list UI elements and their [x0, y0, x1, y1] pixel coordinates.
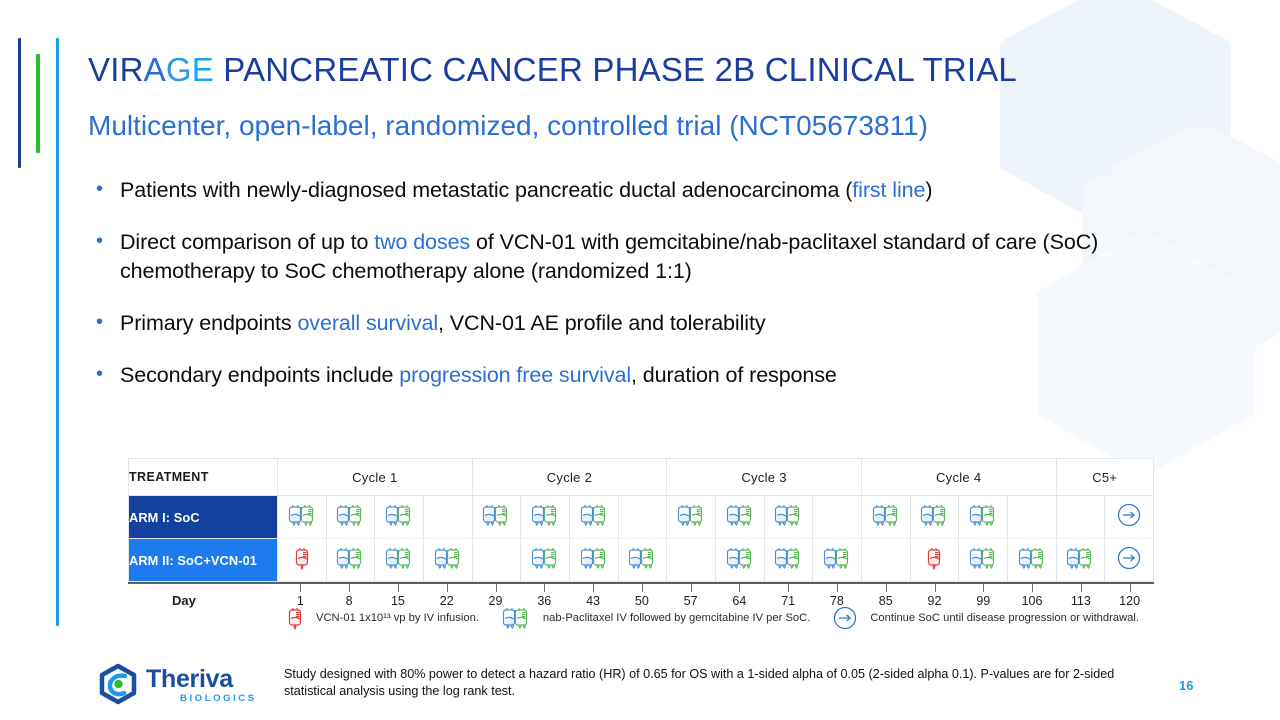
chemo-bag-icon: [871, 502, 901, 528]
schedule-cell-arm2-day99: [959, 539, 1008, 582]
chemo-bag-icon: [579, 502, 609, 528]
treatment-schedule: TREATMENT Cycle 1Cycle 2Cycle 3Cycle 4C5…: [128, 458, 1154, 616]
schedule-cell-arm1-day8: [326, 496, 375, 539]
bullet-item: •Secondary endpoints include progression…: [92, 361, 1202, 390]
schedule-cell-arm2-day106: [1007, 539, 1056, 582]
bullet-0-seg-2: ): [925, 178, 932, 202]
accent-bar-cyan: [56, 38, 59, 626]
legend-text-1: nab-Paclitaxel IV followed by gemcitabin…: [543, 612, 810, 624]
schedule-cell-arm1-day1: [278, 496, 327, 539]
legend-item-1: nab-Paclitaxel IV followed by gemcitabin…: [501, 605, 810, 631]
chemo-bag-icon: [501, 605, 531, 631]
schedule-row-arm-1: ARM I: SoC: [129, 496, 1154, 539]
day-tick-22: [447, 584, 448, 592]
schedule-cell-arm1-day92: [910, 496, 959, 539]
schedule-cell-arm2-day50: [618, 539, 667, 582]
arm-label-1: ARM I: SoC: [129, 496, 278, 539]
legend-text-2: Continue SoC until disease progression o…: [870, 612, 1139, 624]
schedule-cell-arm1-day22: [423, 496, 472, 539]
schedule-cell-arm1-day120: [1105, 496, 1154, 539]
chemo-bag-icon: [501, 605, 537, 631]
chemo-bag-icon: [335, 545, 365, 571]
theriva-hexagon-icon: [96, 663, 142, 705]
schedule-cell-arm2-day85: [861, 539, 910, 582]
schedule-head: TREATMENT Cycle 1Cycle 2Cycle 3Cycle 4C5…: [129, 459, 1154, 496]
legend-item-0: VCN-01 1x10¹³ vp by IV infusion.: [286, 605, 479, 631]
treatment-header: TREATMENT: [129, 459, 278, 496]
chemo-bag-icon: [481, 502, 511, 528]
arrow-circle-icon: [1116, 545, 1142, 571]
day-tick-15: [398, 584, 399, 592]
day-tick-99: [983, 584, 984, 592]
day-tick-120: [1130, 584, 1131, 592]
arrow-circle-icon: [1116, 502, 1142, 528]
schedule-cell-arm2-day36: [521, 539, 570, 582]
day-tick-92: [935, 584, 936, 592]
vcn-bag-icon: [293, 545, 311, 571]
cycle-header-1: Cycle 1: [278, 459, 473, 496]
chemo-bag-icon: [725, 545, 755, 571]
bullet-0-seg-0: Patients with newly-diagnosed metastatic…: [120, 178, 852, 202]
day-tick-36: [544, 584, 545, 592]
schedule-legend: VCN-01 1x10¹³ vp by IV infusion. nab-Pac…: [286, 606, 1176, 630]
chemo-bag-icon: [773, 545, 803, 571]
day-tick-50: [642, 584, 643, 592]
chemo-bag-icon: [384, 502, 414, 528]
bullet-3-seg-1: progression free survival: [399, 363, 631, 387]
schedule-cell-arm1-day85: [861, 496, 910, 539]
title-part-4: PANCREATIC CANCER PHASE 2B CLINICAL TRIA…: [214, 51, 1017, 88]
bullet-item: •Direct comparison of up to two doses of…: [92, 228, 1202, 286]
schedule-cell-arm1-day64: [715, 496, 764, 539]
chemo-bag-icon: [676, 502, 706, 528]
schedule-cell-arm2-day1: [278, 539, 327, 582]
chemo-bag-icon: [384, 545, 414, 571]
chemo-bag-icon: [433, 545, 463, 571]
day-axis-label: Day: [172, 593, 196, 608]
schedule-cell-arm2-day120: [1105, 539, 1154, 582]
schedule-cell-arm2-day92: [910, 539, 959, 582]
cycle-header-2: Cycle 2: [472, 459, 667, 496]
chemo-bag-icon: [1065, 545, 1095, 571]
cycle-header-5: C5+: [1056, 459, 1154, 496]
day-tick-78: [837, 584, 838, 592]
logo-subtitle: BIOLOGICS: [180, 693, 257, 704]
schedule-cell-arm1-day71: [764, 496, 813, 539]
arrow-circle-icon: [832, 605, 864, 631]
schedule-cell-arm1-day78: [813, 496, 862, 539]
chemo-bag-icon: [968, 545, 998, 571]
vcn-bag-icon: [925, 545, 943, 571]
day-tick-8: [349, 584, 350, 592]
bullet-marker-icon: •: [92, 176, 120, 202]
bullet-list: •Patients with newly-diagnosed metastati…: [92, 176, 1202, 413]
title-part-3: E: [192, 51, 214, 88]
cycle-header-3: Cycle 3: [667, 459, 862, 496]
schedule-row-arm-2: ARM II: SoC+VCN-01: [129, 539, 1154, 582]
day-tick-85: [886, 584, 887, 592]
chemo-bag-icon: [627, 545, 657, 571]
bullet-item: •Patients with newly-diagnosed metastati…: [92, 176, 1202, 205]
chemo-bag-icon: [773, 502, 803, 528]
page-number: 16: [1179, 678, 1193, 693]
chemo-bag-icon: [530, 545, 560, 571]
bullet-2-seg-1: overall survival: [297, 311, 438, 335]
slide-title: VIRAGE PANCREATIC CANCER PHASE 2B CLINIC…: [88, 52, 1178, 88]
schedule-cell-arm2-day43: [569, 539, 618, 582]
day-tick-43: [593, 584, 594, 592]
schedule-body: ARM I: SoC: [129, 496, 1154, 582]
day-tick-57: [691, 584, 692, 592]
chemo-bag-icon: [919, 502, 949, 528]
title-part-1: A: [144, 51, 166, 88]
title-part-2: G: [166, 51, 192, 88]
day-tick-29: [496, 584, 497, 592]
vcn-bag-icon: [286, 605, 304, 631]
schedule-cell-arm2-day71: [764, 539, 813, 582]
logo-wordmark: Theriva: [146, 665, 233, 694]
schedule-cell-arm1-day50: [618, 496, 667, 539]
schedule-cell-arm1-day99: [959, 496, 1008, 539]
schedule-cell-arm1-day43: [569, 496, 618, 539]
cycle-header-4: Cycle 4: [861, 459, 1056, 496]
bullet-0-seg-1: first line: [852, 178, 925, 202]
footnote-text: Study designed with 80% power to detect …: [284, 666, 1144, 700]
day-tick-64: [739, 584, 740, 592]
schedule-cell-arm2-day15: [375, 539, 424, 582]
schedule-cell-arm1-day29: [472, 496, 521, 539]
chemo-bag-icon: [725, 502, 755, 528]
chemo-bag-icon: [1017, 545, 1047, 571]
bullet-text: Secondary endpoints include progression …: [120, 361, 1202, 390]
slide-subtitle: Multicenter, open-label, randomized, con…: [88, 110, 1188, 142]
schedule-cell-arm1-day113: [1056, 496, 1105, 539]
day-tick-113: [1081, 584, 1082, 592]
theriva-logo: Theriva BIOLOGICS: [96, 663, 274, 709]
vcn-bag-icon: [286, 605, 310, 631]
bullet-2-seg-2: , VCN-01 AE profile and tolerability: [438, 311, 765, 335]
schedule-cell-arm2-day57: [667, 539, 716, 582]
arm-label-2: ARM II: SoC+VCN-01: [129, 539, 278, 582]
chemo-bag-icon: [530, 502, 560, 528]
chemo-bag-icon: [822, 545, 852, 571]
day-tick-71: [788, 584, 789, 592]
bullet-1-seg-1: two doses: [374, 230, 470, 254]
bullet-marker-icon: •: [92, 309, 120, 335]
bullet-text: Patients with newly-diagnosed metastatic…: [120, 176, 1202, 205]
bullet-text: Direct comparison of up to two doses of …: [120, 228, 1202, 286]
schedule-cell-arm1-day106: [1007, 496, 1056, 539]
bullet-item: •Primary endpoints overall survival, VCN…: [92, 309, 1202, 338]
schedule-cell-arm1-day15: [375, 496, 424, 539]
schedule-table: TREATMENT Cycle 1Cycle 2Cycle 3Cycle 4C5…: [128, 458, 1154, 582]
bullet-marker-icon: •: [92, 361, 120, 387]
legend-item-2: Continue SoC until disease progression o…: [832, 605, 1139, 631]
bullet-3-seg-0: Secondary endpoints include: [120, 363, 399, 387]
chemo-bag-icon: [968, 502, 998, 528]
bullet-1-seg-0: Direct comparison of up to: [120, 230, 374, 254]
bullet-3-seg-2: , duration of response: [631, 363, 837, 387]
accent-bar-green: [36, 54, 40, 153]
chemo-bag-icon: [579, 545, 609, 571]
arrow-circle-icon: [832, 605, 858, 631]
schedule-cell-arm2-day113: [1056, 539, 1105, 582]
chemo-bag-icon: [335, 502, 365, 528]
schedule-cell-arm2-day29: [472, 539, 521, 582]
accent-bar-navy: [18, 38, 21, 168]
bullet-marker-icon: •: [92, 228, 120, 254]
chemo-bag-icon: [287, 502, 317, 528]
day-tick-1: [300, 584, 301, 592]
day-tick-106: [1032, 584, 1033, 592]
schedule-cell-arm2-day78: [813, 539, 862, 582]
title-part-0: VIR: [88, 51, 144, 88]
schedule-cell-arm1-day36: [521, 496, 570, 539]
schedule-cell-arm2-day22: [423, 539, 472, 582]
schedule-header-row: TREATMENT Cycle 1Cycle 2Cycle 3Cycle 4C5…: [129, 459, 1154, 496]
schedule-cell-arm2-day64: [715, 539, 764, 582]
legend-text-0: VCN-01 1x10¹³ vp by IV infusion.: [316, 612, 479, 624]
schedule-cell-arm1-day57: [667, 496, 716, 539]
bullet-2-seg-0: Primary endpoints: [120, 311, 297, 335]
schedule-cell-arm2-day8: [326, 539, 375, 582]
bullet-text: Primary endpoints overall survival, VCN-…: [120, 309, 1202, 338]
